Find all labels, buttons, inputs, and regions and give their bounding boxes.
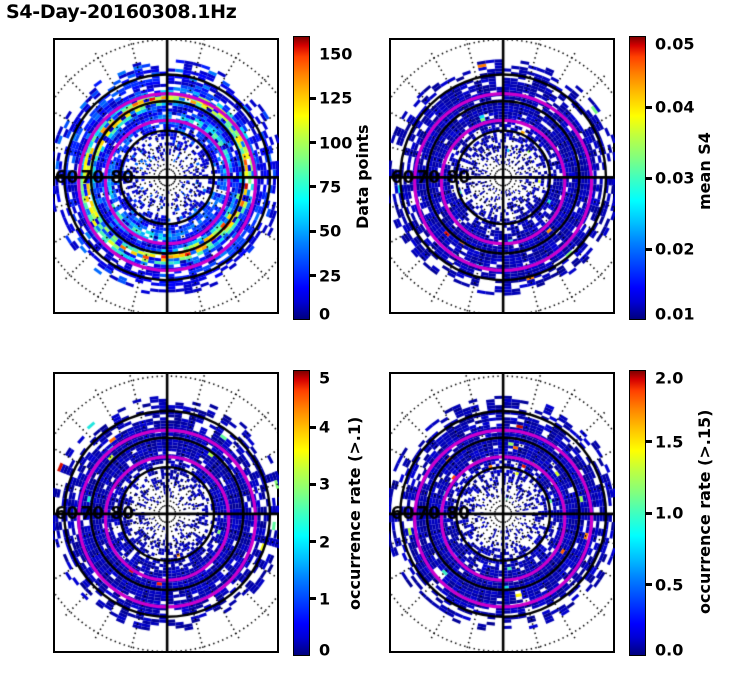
- colorbar-tick-label: 0.0: [655, 641, 683, 660]
- colorbar-tick-mark: [646, 248, 652, 251]
- figure-root: S4-Day-20160308.1Hz 0255075100125150 Dat…: [0, 0, 731, 674]
- colorbar-tick-label: 2: [319, 532, 330, 551]
- colorbar-mean-s4[interactable]: 0.010.020.030.040.05 mean S4: [629, 36, 646, 320]
- colorbar-tick-mark: [310, 426, 316, 429]
- colorbar-tick-mark: [310, 230, 316, 233]
- polar-plot-occurrence-gt-point1[interactable]: [53, 372, 279, 653]
- colorbar-tick-label: 125: [319, 89, 352, 108]
- colorbar-tick-label: 0.5: [655, 575, 683, 594]
- colorbar-tick-label: 0.01: [655, 305, 694, 324]
- colorbar-tick-mark: [646, 106, 652, 109]
- colorbar-tick-label: 0: [319, 641, 330, 660]
- colorbar-tick-mark: [646, 512, 652, 515]
- colorbar-tick-label: 3: [319, 475, 330, 494]
- colorbar-tick-mark: [310, 141, 316, 144]
- panel-data-points[interactable]: [53, 38, 279, 314]
- colorbar-tick-label: 1.5: [655, 432, 683, 451]
- colorbar-tick-label: 0.05: [655, 35, 694, 54]
- colorbar-tick-label: 1.0: [655, 504, 683, 523]
- colorbar-gradient: [629, 36, 646, 320]
- colorbar-tick-mark: [310, 274, 316, 277]
- colorbar-tick-label: 4: [319, 418, 330, 437]
- colorbar-tick-label: 50: [319, 222, 341, 241]
- colorbar-tick-label: 25: [319, 266, 341, 285]
- polar-plot-occurrence-gt-point15[interactable]: [389, 372, 615, 653]
- colorbar-gradient: [629, 370, 646, 656]
- colorbar-tick-mark: [646, 583, 652, 586]
- colorbar-tick-mark: [646, 177, 652, 180]
- colorbar-tick-label: 100: [319, 133, 352, 152]
- colorbar-tick-mark: [310, 97, 316, 100]
- colorbar-tick-mark: [310, 597, 316, 600]
- colorbar-label: mean S4: [695, 132, 714, 210]
- colorbar-tick-mark: [310, 483, 316, 486]
- colorbar-label: occurrence rate (>.1): [345, 416, 364, 609]
- panel-mean-s4[interactable]: [389, 38, 615, 314]
- panel-occurrence-rate-gt-point15[interactable]: [389, 372, 615, 653]
- colorbar-label: Data points: [353, 124, 372, 229]
- colorbar-data-points[interactable]: 0255075100125150 Data points: [293, 36, 310, 320]
- colorbar-gradient: [293, 370, 310, 656]
- colorbar-tick-label: 0.02: [655, 240, 694, 259]
- colorbar-tick-label: 0.04: [655, 98, 694, 117]
- colorbar-tick-label: 0.03: [655, 169, 694, 188]
- colorbar-tick-mark: [310, 185, 316, 188]
- colorbar-tick-label: 75: [319, 177, 341, 196]
- panel-occurrence-rate-gt-point1[interactable]: [53, 372, 279, 653]
- colorbar-tick-label: 2.0: [655, 369, 683, 388]
- page-title: S4-Day-20160308.1Hz: [6, 1, 237, 23]
- colorbar-tick-label: 1: [319, 589, 330, 608]
- colorbar-occurrence-gt-point1[interactable]: 012345 occurrence rate (>.1): [293, 370, 310, 656]
- colorbar-tick-label: 0: [319, 305, 330, 324]
- colorbar-tick-label: 5: [319, 369, 330, 388]
- colorbar-occurrence-gt-point15[interactable]: 0.00.51.01.52.0 occurrence rate (>.15): [629, 370, 646, 656]
- colorbar-tick-mark: [310, 540, 316, 543]
- polar-plot-mean-s4[interactable]: [389, 38, 615, 314]
- colorbar-gradient: [293, 36, 310, 320]
- polar-plot-data-points[interactable]: [53, 38, 279, 314]
- colorbar-label: occurrence rate (>.15): [695, 410, 714, 614]
- colorbar-tick-mark: [646, 440, 652, 443]
- colorbar-tick-label: 150: [319, 44, 352, 63]
